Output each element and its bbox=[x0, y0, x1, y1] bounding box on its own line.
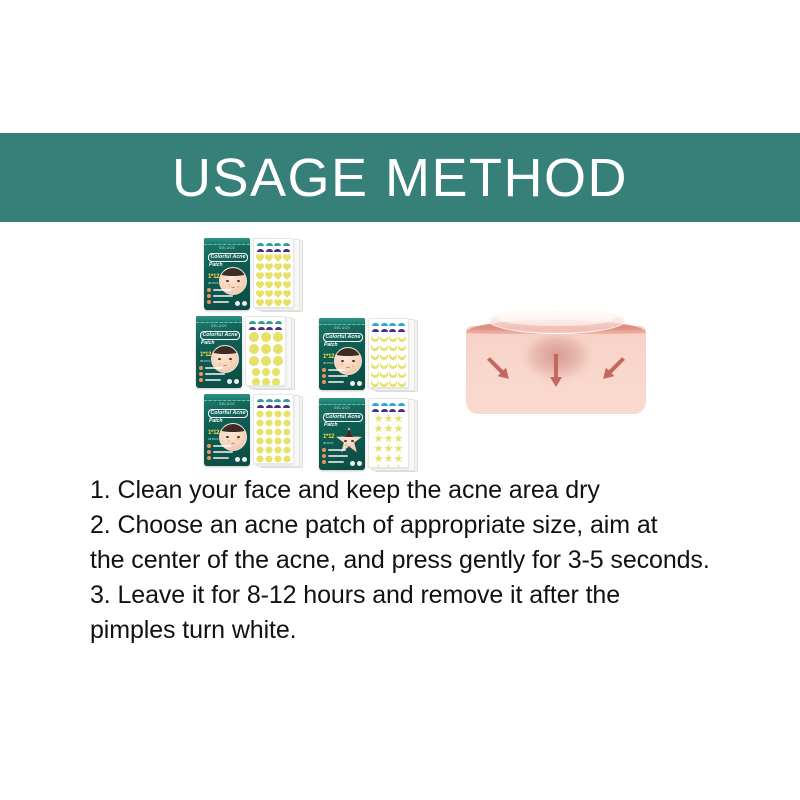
patch-dot-icon bbox=[219, 363, 221, 365]
pouch-feature-bullets bbox=[207, 444, 233, 462]
patch-grid-star bbox=[371, 413, 406, 468]
bullet-dot-icon bbox=[322, 448, 326, 452]
patch-moon bbox=[380, 334, 388, 342]
patch-flower bbox=[256, 410, 264, 418]
sheet-tab bbox=[381, 403, 388, 406]
sheet-tab-row-purple bbox=[248, 325, 283, 330]
patch-flower bbox=[265, 428, 273, 436]
bullet-dot-icon bbox=[207, 294, 211, 298]
patch-heart bbox=[274, 254, 282, 262]
pouch-subtitle-label: Patch bbox=[324, 342, 338, 348]
sheet-tab bbox=[381, 329, 388, 332]
sheet-tab bbox=[398, 329, 405, 332]
pouch-tear-notch bbox=[196, 316, 242, 323]
patch-flower bbox=[265, 410, 273, 418]
patch-flower bbox=[256, 419, 264, 427]
patch-moon bbox=[389, 379, 397, 387]
sheet-tab-row-teal bbox=[256, 397, 291, 402]
instruction-line-5: pimples turn white. bbox=[90, 613, 780, 648]
hair-shape bbox=[212, 346, 238, 354]
bullet-dot-icon bbox=[322, 380, 326, 384]
patch-circle bbox=[249, 356, 259, 366]
pouch-title-label: Colorful Acne bbox=[323, 413, 363, 422]
patch-circle bbox=[272, 368, 280, 376]
pouch-feature-bullet bbox=[207, 300, 233, 304]
bullet-dot-icon bbox=[207, 456, 211, 460]
pouch-feature-bullets bbox=[322, 368, 348, 386]
product-gallery: GELUCE Colorful Acne Patch 1*12 36 PCS bbox=[196, 238, 436, 466]
shape-icon bbox=[242, 301, 247, 306]
product-pouch: GELUCE Colorful Acne Patch 1*12 36 PCS bbox=[196, 316, 242, 388]
patch-star bbox=[394, 424, 403, 433]
pouch-subtitle-label: Patch bbox=[201, 340, 215, 346]
patch-flower bbox=[274, 428, 282, 436]
bullet-text-bar bbox=[213, 451, 233, 453]
patch-moon bbox=[398, 334, 406, 342]
sheet-tab bbox=[266, 327, 273, 330]
patch-moon bbox=[398, 352, 406, 360]
sheet-tab-row-cyan bbox=[371, 401, 406, 406]
bullet-dot-icon bbox=[322, 374, 326, 378]
bullet-text-bar bbox=[213, 457, 229, 459]
patch-moon bbox=[380, 361, 388, 369]
patch-flower bbox=[274, 437, 282, 445]
hair-shape bbox=[220, 424, 246, 432]
patch-heart bbox=[283, 272, 291, 280]
pouch-brand-label: GELUCE bbox=[204, 402, 250, 406]
bullet-text-bar bbox=[328, 375, 348, 377]
pouch-shape-icons bbox=[227, 379, 239, 384]
eye-left-shape bbox=[344, 440, 347, 442]
sheet-tab bbox=[372, 409, 379, 412]
patch-flower bbox=[283, 428, 291, 436]
patch-heart bbox=[283, 299, 291, 307]
eye-left-shape bbox=[226, 436, 229, 438]
pouch-shape-icons bbox=[350, 461, 362, 466]
patch-flower bbox=[283, 437, 291, 445]
patch-star bbox=[384, 454, 393, 463]
bullet-dot-icon bbox=[199, 378, 203, 382]
sheet-tab bbox=[398, 409, 405, 412]
patch-circle bbox=[262, 378, 270, 386]
pouch-title-label: Colorful Acne bbox=[208, 253, 248, 262]
bullet-dot-icon bbox=[322, 368, 326, 372]
sheet-tab bbox=[275, 321, 282, 324]
patch-moon bbox=[380, 379, 388, 387]
sheet-tab bbox=[381, 323, 388, 326]
patch-moon bbox=[371, 370, 379, 378]
patch-moon bbox=[389, 334, 397, 342]
patch-moon bbox=[371, 352, 379, 360]
pouch-feature-bullet bbox=[207, 456, 233, 460]
patch-heart bbox=[274, 299, 282, 307]
patch-flower bbox=[256, 455, 264, 463]
patch-star bbox=[384, 464, 393, 468]
eye-left-shape bbox=[341, 360, 344, 362]
bullet-text-bar bbox=[205, 379, 221, 381]
patch-circle bbox=[273, 332, 283, 342]
patch-flower bbox=[283, 455, 291, 463]
pouch-feature-bullet bbox=[199, 372, 225, 376]
bullet-dot-icon bbox=[199, 366, 203, 370]
patch-moon bbox=[371, 379, 379, 387]
bullet-dot-icon bbox=[207, 444, 211, 448]
hair-shape bbox=[340, 430, 358, 437]
patch-star bbox=[394, 454, 403, 463]
hair-shape bbox=[220, 268, 246, 276]
pouch-count-label: 1*12 bbox=[200, 352, 211, 358]
patch-circle bbox=[262, 368, 270, 376]
instruction-line-3: the center of the acne, and press gently… bbox=[90, 543, 780, 578]
eye-left-shape bbox=[226, 280, 229, 282]
patch-moon bbox=[389, 343, 397, 351]
pouch-feature-bullet bbox=[322, 448, 348, 452]
sheet-tab bbox=[283, 243, 290, 246]
shape-icon bbox=[242, 457, 247, 462]
instruction-line-4: 3. Leave it for 8-12 hours and remove it… bbox=[90, 578, 780, 613]
pouch-count-label: 1*12 bbox=[323, 354, 334, 360]
product-pouch: GELUCE Colorful Acne Patch 1*12 36 PCS bbox=[204, 394, 250, 466]
pouch-feature-bullet bbox=[199, 378, 225, 382]
patch-star bbox=[384, 414, 393, 423]
sheet-tab bbox=[283, 399, 290, 402]
bullet-text-bar bbox=[328, 381, 344, 383]
patch-heart bbox=[256, 290, 264, 298]
pouch-feature-bullet bbox=[207, 294, 233, 298]
sheet-tab bbox=[249, 321, 256, 324]
pouch-count-sub-label: 36 PCS bbox=[200, 359, 210, 363]
patch-star bbox=[374, 434, 383, 443]
patch-circle bbox=[273, 356, 283, 366]
patch-flower bbox=[283, 446, 291, 454]
patch-flower bbox=[265, 437, 273, 445]
patch-flower bbox=[274, 446, 282, 454]
patch-grid-circle bbox=[248, 331, 283, 386]
patch-flower bbox=[274, 410, 282, 418]
acne-patch-dome-highlight bbox=[499, 311, 615, 326]
pouch-brand-label: GELUCE bbox=[204, 246, 250, 250]
patch-moon bbox=[389, 352, 397, 360]
sheet-tab bbox=[258, 321, 265, 324]
pouch-feature-bullets bbox=[199, 366, 225, 384]
sheet-tab bbox=[381, 409, 388, 412]
eye-right-shape bbox=[237, 280, 240, 282]
sheet-tab-row-cyan bbox=[371, 321, 406, 326]
sheet-tab bbox=[257, 243, 264, 246]
patch-flower bbox=[274, 455, 282, 463]
patch-heart bbox=[283, 263, 291, 271]
patch-moon bbox=[380, 352, 388, 360]
sheet-tab bbox=[398, 403, 405, 406]
patch-sheet-front bbox=[253, 394, 294, 464]
product-pouch: GELUCE Colorful Acne Patch 1*12 36 PCS bbox=[319, 398, 365, 470]
sheet-tab bbox=[266, 243, 273, 246]
patch-moon bbox=[398, 379, 406, 387]
patch-star bbox=[394, 464, 403, 468]
pouch-tear-notch bbox=[204, 238, 250, 245]
patch-sheet-stack bbox=[368, 398, 416, 470]
pouch-subtitle-label: Patch bbox=[324, 422, 338, 428]
pouch-title-label: Colorful Acne bbox=[323, 333, 363, 342]
patch-circle bbox=[261, 332, 271, 342]
patch-flower bbox=[265, 446, 273, 454]
patch-moon bbox=[371, 343, 379, 351]
patch-flower bbox=[283, 410, 291, 418]
pouch-feature-bullet bbox=[322, 374, 348, 378]
pouch-tear-notch bbox=[319, 398, 365, 405]
sheet-tab-row-purple bbox=[371, 327, 406, 332]
patch-sheet-front bbox=[253, 238, 294, 308]
bullet-text-bar bbox=[328, 449, 346, 451]
patch-moon bbox=[398, 343, 406, 351]
bullet-text-bar bbox=[328, 455, 348, 457]
product-pouch: GELUCE Colorful Acne Patch 1*12 36 PCS bbox=[204, 238, 250, 310]
product-item-round-patch[interactable]: GELUCE Colorful Acne Patch 1*12 36 PCS bbox=[196, 316, 293, 388]
pouch-shape-icons bbox=[350, 381, 362, 386]
patch-star bbox=[374, 424, 383, 433]
patch-moon bbox=[371, 361, 379, 369]
patch-dot-icon bbox=[228, 284, 230, 286]
pouch-brand-label: GELUCE bbox=[196, 324, 242, 328]
sheet-tab bbox=[283, 249, 290, 252]
eye-left-shape bbox=[218, 358, 221, 360]
patch-heart bbox=[274, 281, 282, 289]
sheet-tab-row-teal bbox=[256, 241, 291, 246]
patch-grid-moon bbox=[371, 333, 406, 387]
patch-sheet-stack bbox=[368, 318, 416, 390]
shape-icon bbox=[235, 457, 240, 462]
bullet-dot-icon bbox=[207, 450, 211, 454]
patch-heart bbox=[265, 263, 273, 271]
bullet-dot-icon bbox=[322, 454, 326, 458]
bullet-text-bar bbox=[328, 461, 344, 463]
pouch-tear-notch bbox=[204, 394, 250, 401]
eye-right-shape bbox=[229, 358, 232, 360]
patch-sheet-front bbox=[368, 318, 409, 388]
mouth-shape bbox=[347, 444, 351, 447]
pouch-feature-bullet bbox=[322, 368, 348, 372]
patch-heart bbox=[283, 281, 291, 289]
pouch-count-sub-label: 36 PCS bbox=[323, 361, 333, 365]
sheet-tab bbox=[257, 405, 264, 408]
patch-heart bbox=[256, 272, 264, 280]
sheet-tab-row-purple bbox=[371, 407, 406, 412]
pouch-count-sub-label: 36 PCS bbox=[208, 281, 218, 285]
patch-heart bbox=[256, 299, 264, 307]
patch-heart bbox=[274, 272, 282, 280]
patch-flower bbox=[265, 455, 273, 463]
patch-heart bbox=[256, 281, 264, 289]
patch-dot-icon bbox=[352, 365, 354, 367]
shape-icon bbox=[357, 461, 362, 466]
patch-dot-icon bbox=[237, 286, 239, 288]
sheet-tab-row-purple bbox=[256, 247, 291, 252]
patch-dot-icon bbox=[230, 361, 232, 363]
pouch-brand-label: GELUCE bbox=[319, 326, 365, 330]
pouch-count-sub-label: 36 PCS bbox=[323, 441, 333, 445]
bullet-dot-icon bbox=[199, 372, 203, 376]
pouch-shape-icons bbox=[235, 457, 247, 462]
patch-heart bbox=[265, 254, 273, 262]
patch-dot-icon bbox=[345, 444, 347, 446]
bullet-text-bar bbox=[205, 367, 223, 369]
patch-moon bbox=[398, 370, 406, 378]
patch-sheet-stack bbox=[253, 238, 301, 310]
sheet-tab bbox=[257, 399, 264, 402]
patch-flower bbox=[274, 419, 282, 427]
patch-circle bbox=[252, 378, 260, 386]
pouch-feature-bullet bbox=[207, 288, 233, 292]
pouch-subtitle-label: Patch bbox=[209, 262, 223, 268]
patch-heart bbox=[256, 263, 264, 271]
patch-sheet-front bbox=[368, 398, 409, 468]
patch-moon bbox=[398, 361, 406, 369]
patch-star bbox=[394, 444, 403, 453]
patch-grid-flower bbox=[256, 409, 291, 463]
patch-star bbox=[394, 414, 403, 423]
pouch-feature-bullet bbox=[322, 460, 348, 464]
instruction-line-1: 1. Clean your face and keep the acne are… bbox=[90, 473, 780, 508]
patch-star bbox=[374, 444, 383, 453]
sheet-tab bbox=[398, 323, 405, 326]
patch-heart bbox=[256, 254, 264, 262]
patch-dot-icon bbox=[237, 438, 239, 440]
bullet-text-bar bbox=[213, 301, 229, 303]
pouch-count-label: 1*12 bbox=[208, 430, 219, 436]
patch-heart bbox=[265, 281, 273, 289]
absorption-arrow-center-icon bbox=[549, 354, 563, 388]
product-item-heart-patch[interactable]: GELUCE Colorful Acne Patch 1*12 36 PCS bbox=[204, 238, 301, 310]
pouch-feature-bullet bbox=[207, 444, 233, 448]
patch-flower bbox=[283, 419, 291, 427]
patch-heart bbox=[274, 263, 282, 271]
patch-moon bbox=[389, 361, 397, 369]
sheet-tab bbox=[389, 403, 396, 406]
product-pouch: GELUCE Colorful Acne Patch 1*12 36 PCS bbox=[319, 318, 365, 390]
pouch-feature-bullet bbox=[322, 380, 348, 384]
patch-flower bbox=[256, 446, 264, 454]
patch-sheet-stack bbox=[245, 316, 293, 388]
patch-circle bbox=[261, 344, 271, 354]
sheet-tab bbox=[372, 403, 379, 406]
pouch-count-label: 1*12 bbox=[323, 434, 334, 440]
sheet-tab bbox=[266, 405, 273, 408]
patch-heart bbox=[283, 290, 291, 298]
patch-circle bbox=[272, 378, 280, 386]
patch-moon bbox=[380, 343, 388, 351]
bullet-dot-icon bbox=[322, 460, 326, 464]
patch-moon bbox=[371, 334, 379, 342]
shape-icon bbox=[235, 301, 240, 306]
sheet-tab bbox=[275, 327, 282, 330]
patch-star bbox=[374, 454, 383, 463]
shape-icon bbox=[350, 461, 355, 466]
patch-dot-icon bbox=[341, 363, 343, 365]
sheet-tab bbox=[266, 399, 273, 402]
bullet-text-bar bbox=[213, 289, 231, 291]
usage-method-banner: USAGE METHOD bbox=[0, 133, 800, 222]
pouch-count-label: 1*12 bbox=[208, 274, 219, 280]
pouch-title-label: Colorful Acne bbox=[200, 331, 240, 340]
patch-heart bbox=[265, 299, 273, 307]
patch-star bbox=[394, 434, 403, 443]
patch-moon bbox=[380, 370, 388, 378]
shape-icon bbox=[357, 381, 362, 386]
shape-icon bbox=[350, 381, 355, 386]
eye-right-shape bbox=[351, 440, 354, 442]
patch-star bbox=[374, 414, 383, 423]
hair-shape bbox=[335, 348, 361, 356]
patch-flower bbox=[256, 428, 264, 436]
usage-instructions: 1. Clean your face and keep the acne are… bbox=[90, 473, 780, 648]
patch-star bbox=[384, 434, 393, 443]
pouch-brand-label: GELUCE bbox=[319, 406, 365, 410]
patch-heart bbox=[274, 290, 282, 298]
pouch-feature-bullets bbox=[207, 288, 233, 306]
sheet-tab bbox=[389, 323, 396, 326]
pouch-feature-bullet bbox=[322, 454, 348, 458]
sheet-tab bbox=[257, 249, 264, 252]
patch-circle bbox=[249, 332, 259, 342]
patch-heart bbox=[265, 272, 273, 280]
product-item-star-patch[interactable]: GELUCE Colorful Acne Patch 1*12 36 PCS bbox=[319, 398, 416, 470]
patch-star bbox=[384, 444, 393, 453]
sheet-tab bbox=[283, 405, 290, 408]
sheet-tab bbox=[372, 329, 379, 332]
patch-circle bbox=[261, 356, 271, 366]
pouch-feature-bullet bbox=[207, 450, 233, 454]
sheet-tab bbox=[249, 327, 256, 330]
instruction-line-2: 2. Choose an acne patch of appropriate s… bbox=[90, 508, 780, 543]
shape-icon bbox=[227, 379, 232, 384]
patch-dot-icon bbox=[228, 440, 230, 442]
pouch-subtitle-label: Patch bbox=[209, 418, 223, 424]
bullet-text-bar bbox=[213, 445, 231, 447]
bullet-text-bar bbox=[205, 373, 225, 375]
patch-star bbox=[374, 464, 383, 468]
sheet-tab bbox=[274, 405, 281, 408]
sheet-tab bbox=[274, 249, 281, 252]
sheet-tab bbox=[266, 249, 273, 252]
patch-heart bbox=[265, 290, 273, 298]
patch-moon bbox=[389, 370, 397, 378]
shape-icon bbox=[234, 379, 239, 384]
sheet-tab bbox=[266, 321, 273, 324]
patch-flower bbox=[256, 437, 264, 445]
bullet-dot-icon bbox=[207, 300, 211, 304]
eye-right-shape bbox=[352, 360, 355, 362]
sheet-tab bbox=[372, 323, 379, 326]
sheet-tab bbox=[389, 409, 396, 412]
patch-grid-heart bbox=[256, 253, 291, 307]
patch-circle bbox=[252, 368, 260, 376]
acne-patch-dome bbox=[488, 306, 626, 334]
patch-sheet-stack bbox=[253, 394, 301, 466]
sheet-tab bbox=[274, 243, 281, 246]
bullet-text-bar bbox=[213, 295, 233, 297]
product-item-moon-patch[interactable]: GELUCE Colorful Acne Patch 1*12 36 PCS bbox=[319, 318, 416, 390]
product-item-flower-patch[interactable]: GELUCE Colorful Acne Patch 1*12 36 PCS bbox=[204, 394, 301, 466]
patch-sheet-front bbox=[245, 316, 286, 386]
patch-flower bbox=[265, 419, 273, 427]
pouch-feature-bullets bbox=[322, 448, 348, 466]
pouch-tear-notch bbox=[319, 318, 365, 325]
pouch-shape-icons bbox=[235, 301, 247, 306]
bullet-dot-icon bbox=[207, 288, 211, 292]
skin-cross-section-diagram bbox=[466, 306, 646, 416]
bullet-text-bar bbox=[328, 369, 346, 371]
pouch-title-label: Colorful Acne bbox=[208, 409, 248, 418]
